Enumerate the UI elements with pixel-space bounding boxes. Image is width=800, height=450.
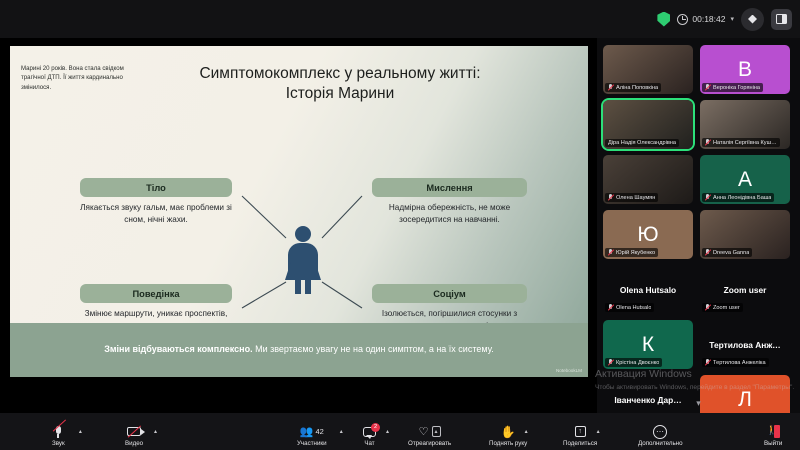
- participant-nameplate: Діра Надія Олександрівна: [605, 139, 679, 147]
- microphone-muted-icon: [55, 426, 62, 438]
- layout-view-button[interactable]: [771, 9, 792, 30]
- participant-nameplate: Dreeva Ganna: [702, 248, 752, 257]
- participant-name-large: Тертилова Анж…: [709, 340, 780, 350]
- react-button[interactable]: ♡ ▴ Отреагировать: [408, 424, 451, 447]
- node-text: Надмірна обережність, не може зосередити…: [372, 202, 527, 225]
- avatar-initial: К: [642, 333, 654, 357]
- sparkle-button[interactable]: [741, 8, 764, 31]
- participant-nameplate: Юрій Якубенко: [605, 248, 658, 257]
- slide-banner: Зміни відбуваються комплексно. Ми зверта…: [10, 323, 588, 377]
- audio-button[interactable]: ▴ Звук: [52, 424, 65, 447]
- shared-screen-stage: Марині 20 років. Вона стала свідком траг…: [0, 38, 597, 413]
- participant-grid: Аліна ПоповкінаВВероніка ГорянінаДіра На…: [603, 45, 794, 424]
- microphone-muted-icon: [705, 304, 711, 311]
- people-icon: 👥: [300, 425, 314, 438]
- participant-nameplate: Zoom user: [702, 303, 743, 312]
- participant-name: Крістіна Двоєнко: [616, 360, 659, 366]
- node-caption: Тіло: [80, 178, 232, 197]
- participant-name: Анна Леонідівна Баша: [713, 195, 771, 201]
- microphone-muted-icon: [608, 359, 614, 366]
- ellipsis-icon: ⋯: [653, 425, 667, 439]
- shield-icon: [657, 12, 670, 27]
- node-text: Лякається звуку гальм, має проблеми зі с…: [80, 202, 232, 225]
- node-body: Тіло Лякається звуку гальм, має проблеми…: [80, 178, 232, 225]
- chat-bubble-icon: 2: [363, 427, 376, 437]
- chevron-up-icon[interactable]: ▴: [386, 428, 389, 435]
- share-screen-icon: ↑: [575, 426, 586, 437]
- node-caption: Поведінка: [80, 284, 232, 303]
- participant-name: Юрій Якубенко: [616, 250, 655, 256]
- chevron-up-icon[interactable]: ▴: [525, 428, 528, 435]
- participant-tile[interactable]: Аліна Поповкіна: [603, 45, 693, 94]
- participants-button[interactable]: 👥 42 ▴ Участники: [297, 424, 327, 447]
- participant-name: Olena Hutsalo: [616, 305, 651, 311]
- participant-tile[interactable]: Тертилова Анж…Тертилова Анжеліка: [700, 320, 790, 369]
- more-label: Дополнительно: [638, 440, 683, 447]
- participant-nameplate: Olena Hutsalo: [605, 303, 654, 312]
- microphone-muted-icon: [608, 304, 614, 311]
- page-title: Симптомокомплекс у реальному житті: Істо…: [130, 64, 550, 104]
- share-label: Поделиться: [563, 440, 597, 447]
- microphone-muted-icon: [705, 359, 711, 366]
- participant-tile[interactable]: Наталія Сергіївна Куш…: [700, 100, 790, 149]
- avatar-initial: Ю: [637, 223, 658, 247]
- microphone-muted-icon: [705, 84, 711, 91]
- participant-name: Dreeva Ganna: [713, 250, 749, 256]
- banner-rest: Ми звертаємо увагу не на один симптом, а…: [253, 344, 494, 354]
- chevron-up-icon[interactable]: ▴: [340, 428, 343, 435]
- participant-tile[interactable]: Dreeva Ganna: [700, 210, 790, 259]
- meeting-toolbar: ▴ Звук ▴ Видео 👥 42 ▴ Участники 2 ▴ Чат …: [0, 413, 800, 450]
- node-caption: Соціум: [372, 284, 527, 303]
- more-button[interactable]: ⋯ Дополнительно: [638, 424, 683, 447]
- participant-name: Zoom user: [713, 305, 740, 311]
- participant-tile[interactable]: ААнна Леонідівна Баша: [700, 155, 790, 204]
- node-caption: Мислення: [372, 178, 527, 197]
- banner-bold: Зміни відбуваються комплексно.: [104, 344, 252, 354]
- participant-nameplate: Аліна Поповкіна: [605, 83, 661, 92]
- chat-badge: 2: [371, 423, 380, 432]
- top-bar: 00:18:42 ▾: [0, 0, 800, 38]
- exit-button[interactable]: 🚶 Выйти: [764, 424, 782, 447]
- participant-count: 42: [315, 427, 323, 436]
- participant-name: Наталія Сергіївна Куш…: [713, 140, 777, 146]
- raised-hand-icon: ✋: [501, 425, 516, 439]
- participant-nameplate: Крістіна Двоєнко: [605, 358, 662, 367]
- narrative-text: Марині 20 років. Вона стала свідком траг…: [21, 64, 129, 92]
- zoom-meeting-window: 00:18:42 ▾ Марині 20 років. Вона стала с…: [0, 0, 800, 450]
- timer-value: 00:18:42: [692, 14, 725, 24]
- microphone-muted-icon: [608, 249, 614, 256]
- participants-panel[interactable]: Аліна ПоповкінаВВероніка ГорянінаДіра На…: [597, 38, 800, 413]
- participant-tile[interactable]: Olena HutsaloOlena Hutsalo: [603, 265, 693, 314]
- title-line-2: Історія Марини: [130, 84, 550, 104]
- presentation-slide: Марині 20 років. Вона стала свідком траг…: [10, 46, 588, 377]
- avatar-initial: Л: [738, 388, 752, 412]
- reaction-panel-icon[interactable]: ▴: [432, 426, 441, 437]
- microphone-muted-icon: [705, 194, 711, 201]
- participant-tile[interactable]: ККрістіна Двоєнко: [603, 320, 693, 369]
- microphone-muted-icon: [705, 249, 711, 256]
- participant-tile[interactable]: ЮЮрій Якубенко: [603, 210, 693, 259]
- raise-hand-button[interactable]: ✋ ▴ Поднять руку: [489, 424, 527, 447]
- camera-muted-icon: [127, 427, 141, 436]
- layout-panel-icon: [776, 14, 787, 24]
- react-label: Отреагировать: [408, 440, 451, 447]
- participant-tile[interactable]: Zoom userZoom user: [700, 265, 790, 314]
- participant-name: Вероніка Горяніна: [713, 85, 760, 91]
- notebooklm-watermark: NotebookLM: [556, 368, 582, 373]
- chevron-up-icon[interactable]: ▴: [597, 428, 600, 435]
- sparkle-icon: [748, 15, 757, 24]
- banner-text: Зміни відбуваються комплексно. Ми зверта…: [84, 343, 514, 356]
- video-button[interactable]: ▴ Видео: [125, 424, 143, 447]
- chevron-down-icon[interactable]: ▾: [696, 398, 701, 409]
- microphone-muted-icon: [705, 139, 711, 146]
- exit-door-icon: 🚶: [766, 425, 780, 438]
- participant-name-large: Zoom user: [724, 285, 767, 295]
- participant-tile[interactable]: Діра Надія Олександрівна: [603, 100, 693, 149]
- person-figure-icon: [281, 226, 325, 294]
- participants-label: Участники: [297, 440, 327, 447]
- audio-label: Звук: [52, 440, 65, 447]
- chevron-up-icon[interactable]: ▴: [79, 428, 82, 435]
- participant-nameplate: Тертилова Анжеліка: [702, 358, 769, 367]
- participant-name: Аліна Поповкіна: [616, 85, 658, 91]
- meeting-timer[interactable]: 00:18:42 ▾: [677, 14, 734, 25]
- chevron-up-icon[interactable]: ▴: [154, 428, 157, 435]
- exit-label: Выйти: [764, 440, 782, 447]
- avatar-initial: В: [738, 58, 752, 82]
- participant-nameplate: Наталія Сергіївна Куш…: [702, 138, 780, 147]
- avatar-initial: А: [738, 168, 752, 192]
- microphone-muted-icon: [608, 194, 614, 201]
- raise-hand-label: Поднять руку: [489, 440, 527, 447]
- participant-nameplate: Олена Шаумян: [605, 193, 658, 202]
- chevron-down-icon[interactable]: ▾: [730, 15, 734, 23]
- participant-name-large: Olena Hutsalo: [620, 285, 676, 295]
- participant-tile[interactable]: ВВероніка Горяніна: [700, 45, 790, 94]
- participant-tile[interactable]: Олена Шаумян: [603, 155, 693, 204]
- participant-nameplate: Анна Леонідівна Баша: [702, 193, 774, 202]
- participant-name: Діра Надія Олександрівна: [608, 140, 676, 146]
- heart-icon: ♡: [419, 425, 429, 438]
- chat-label: Чат: [364, 440, 374, 447]
- participant-name-large: Іванченко Дар…: [614, 395, 681, 405]
- title-line-1: Симптомокомплекс у реальному житті:: [130, 64, 550, 84]
- chat-button[interactable]: 2 ▴ Чат: [363, 424, 376, 447]
- participant-name: Тертилова Анжеліка: [713, 360, 766, 366]
- share-button[interactable]: ↑ ▴ Поделиться: [563, 424, 597, 447]
- participant-name: Олена Шаумян: [616, 195, 655, 201]
- participant-nameplate: Вероніка Горяніна: [702, 83, 763, 92]
- node-thinking: Мислення Надмірна обережність, не може з…: [372, 178, 527, 225]
- clock-icon: [677, 14, 688, 25]
- video-label: Видео: [125, 440, 143, 447]
- microphone-muted-icon: [608, 84, 614, 91]
